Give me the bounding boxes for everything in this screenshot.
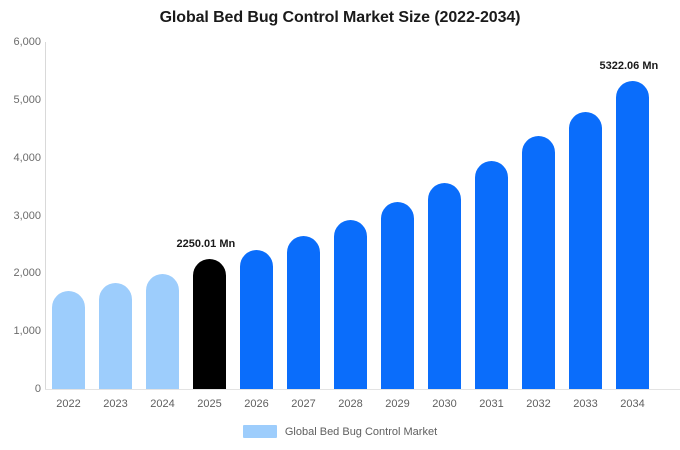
bar-chart: Global Bed Bug Control Market Size (2022… xyxy=(0,0,680,450)
x-axis-tick-label: 2034 xyxy=(604,398,661,410)
legend-item[interactable]: Global Bed Bug Control Market xyxy=(243,425,437,438)
bar[interactable] xyxy=(569,112,602,389)
bar-data-label: 5322.06 Mn xyxy=(600,60,659,72)
bar[interactable] xyxy=(240,250,273,389)
bar[interactable] xyxy=(99,283,132,389)
legend-color-swatch xyxy=(243,425,277,438)
bar[interactable] xyxy=(52,291,85,389)
bar[interactable] xyxy=(287,236,320,389)
bar[interactable] xyxy=(146,274,179,389)
legend-item-label: Global Bed Bug Control Market xyxy=(285,426,437,438)
bar[interactable] xyxy=(193,259,226,389)
bar[interactable] xyxy=(616,81,649,389)
bar[interactable] xyxy=(334,220,367,389)
bar-data-label: 2250.01 Mn xyxy=(177,238,236,250)
bar[interactable] xyxy=(428,183,461,389)
bar[interactable] xyxy=(475,161,508,389)
bar[interactable] xyxy=(381,202,414,389)
chart-legend: Global Bed Bug Control Market xyxy=(0,425,680,438)
bars-layer: 2022202320242025202620272028202920302031… xyxy=(0,0,680,450)
bar[interactable] xyxy=(522,136,555,389)
